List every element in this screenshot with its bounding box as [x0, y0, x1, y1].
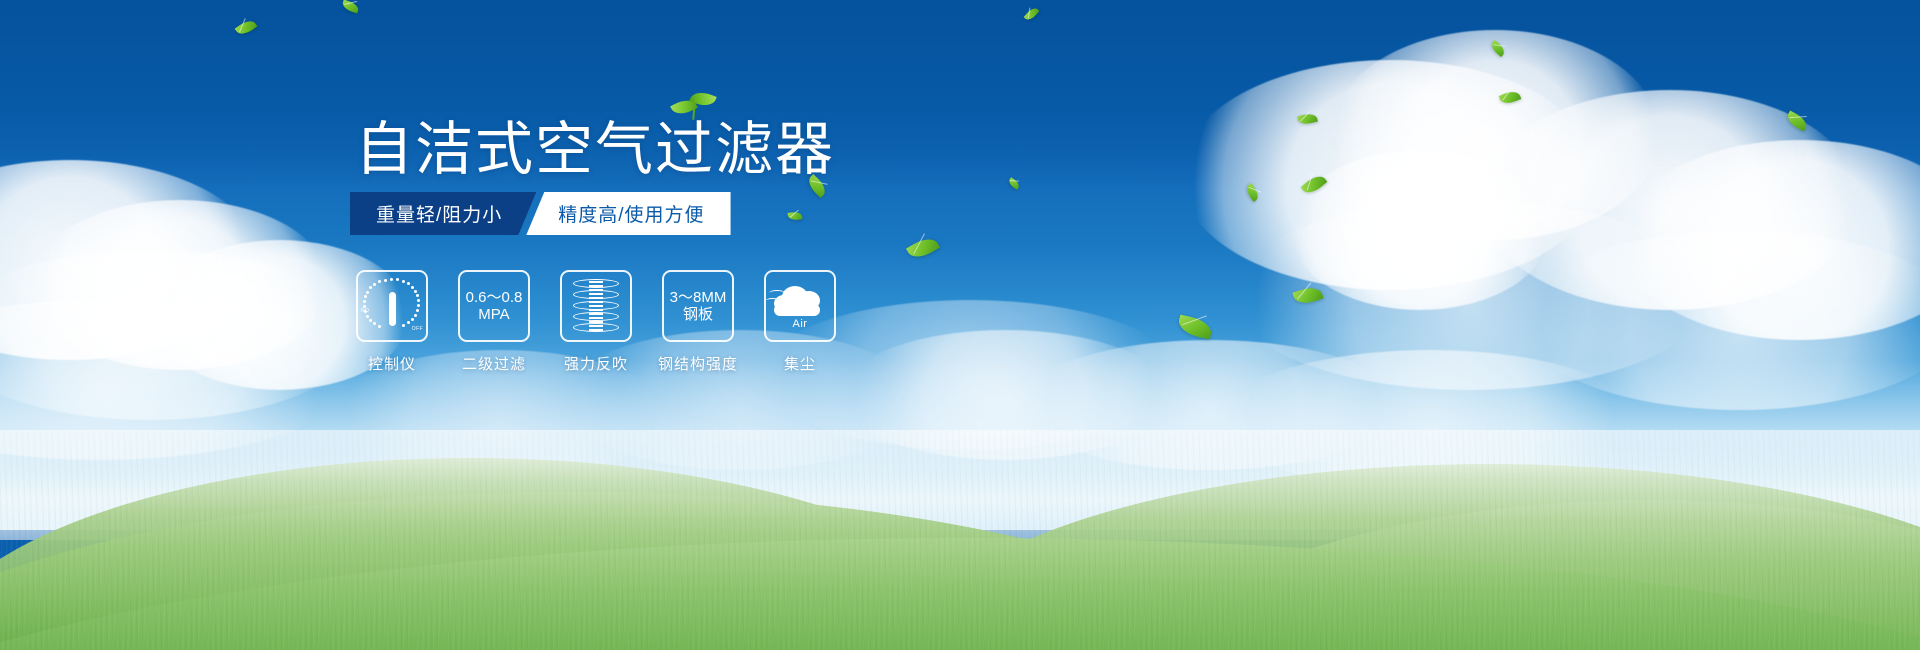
feature-item-dust-collection[interactable]: Air 集尘	[764, 270, 836, 374]
air-label: Air	[772, 318, 828, 330]
feature-box-pressure: 0.6〜0.8 MPA	[458, 270, 530, 342]
feature-item-strong-blowback[interactable]: 强力反吹	[560, 270, 632, 374]
feature-item-controller[interactable]: NO OFF 控制仪	[356, 270, 428, 374]
feature-box-dust: Air	[764, 270, 836, 342]
feature-label-steel-strength: 钢结构强度	[658, 353, 738, 374]
feature-tabs: 重量轻/阻力小 精度高/使用方便	[350, 192, 731, 235]
pressure-value-text: 0.6〜0.8 MPA	[466, 289, 523, 323]
feature-box-blowback	[560, 270, 632, 342]
banner-content: 自洁式空气过滤器 重量轻/阻力小 精度高/使用方便	[0, 0, 1920, 650]
page-title: 自洁式空气过滤器	[355, 119, 835, 181]
feature-label-strong-blowback: 强力反吹	[564, 353, 628, 374]
steel-spec-text: 3〜8MM 钢板	[670, 289, 727, 323]
feature-item-two-stage-filter[interactable]: 0.6〜0.8 MPA 二级过滤	[458, 270, 530, 374]
feature-label-controller: 控制仪	[368, 353, 416, 374]
feature-icon-list: NO OFF 控制仪 0.6〜0.8 MPA 二级过滤	[356, 270, 836, 374]
tab-high-precision-easy-use[interactable]: 精度高/使用方便	[526, 192, 730, 235]
air-cloud-icon: Air	[772, 282, 828, 330]
feature-label-two-stage-filter: 二级过滤	[462, 353, 526, 374]
gauge-icon: NO OFF	[362, 278, 422, 334]
feature-box-controller: NO OFF	[356, 270, 428, 342]
feature-box-steel: 3〜8MM 钢板	[662, 270, 734, 342]
tab-lightweight-low-resistance[interactable]: 重量轻/阻力小	[350, 192, 536, 235]
feature-label-dust-collection: 集尘	[784, 353, 816, 374]
feature-item-steel-strength[interactable]: 3〜8MM 钢板 钢结构强度	[662, 270, 734, 374]
gauge-label-off: OFF	[412, 326, 423, 332]
hero-banner: 自洁式空气过滤器 重量轻/阻力小 精度高/使用方便	[0, 0, 1920, 650]
gauge-label-no: NO	[361, 308, 369, 314]
coil-spring-icon	[573, 279, 619, 333]
